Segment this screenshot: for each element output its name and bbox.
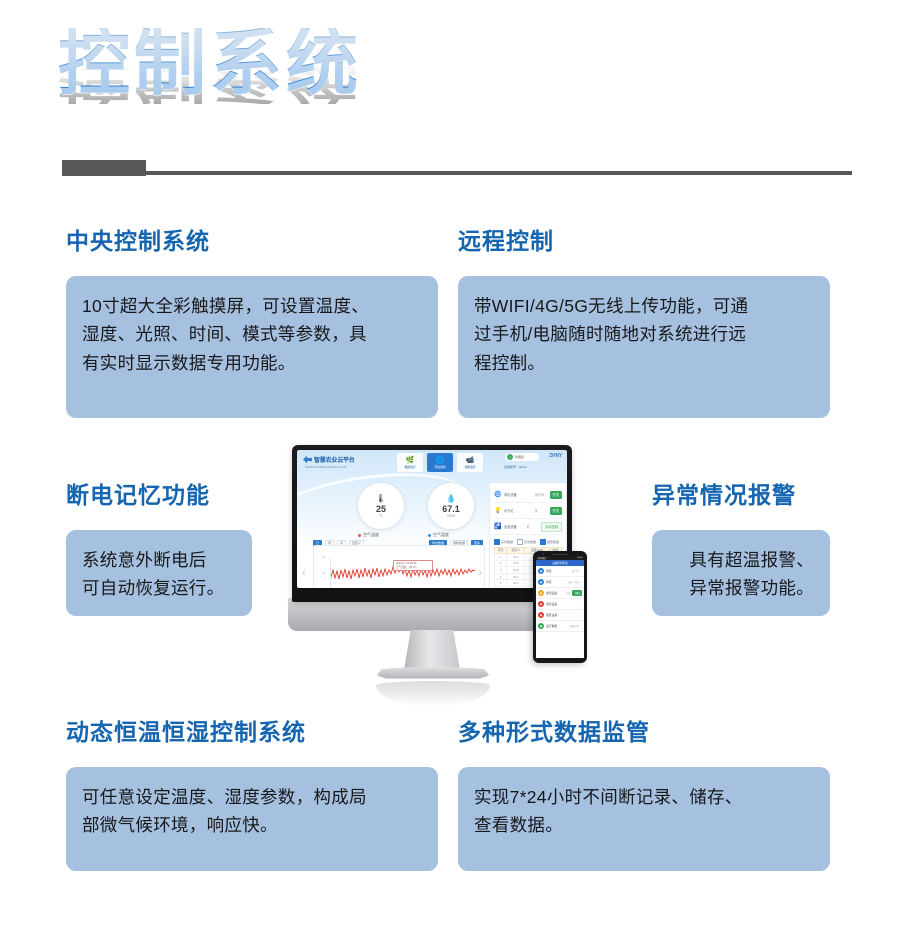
page-title: 控制系统 <box>58 28 362 100</box>
page-header: 控制系统 控制系统 <box>0 0 900 200</box>
checkbox-icon <box>517 539 523 545</box>
list-item-value: 自动 / 关闭 <box>567 580 579 584</box>
gauge-label-air-temperature: 空气温度 <box>358 532 379 538</box>
control-state: 运行中 <box>535 492 547 497</box>
list-item[interactable]: ◉ 加温设备 › <box>536 599 584 610</box>
chart-tooltip: 2023-07-12 09:46 空气温度：25.1℃ <box>393 560 433 571</box>
list-item[interactable]: ◉ 风机 自动 / 关闭 › <box>536 577 584 588</box>
list-item-value: 查看详情 <box>569 624 579 628</box>
feature-heading-central-control: 中央控制系统 <box>66 222 210 256</box>
control-manual-button[interactable]: 手动控制 <box>541 522 562 532</box>
app-account-line: 当前账号：admin <box>504 465 527 469</box>
alarm-icon: ◉ <box>538 612 544 618</box>
app-user-pill[interactable]: ✓ 管理员 <box>505 453 539 461</box>
table-cell: 25.1 <box>507 573 525 580</box>
control-state: 关 <box>526 524 538 529</box>
list-item[interactable]: ◉ 风机 运行中 › <box>536 566 584 577</box>
monitor-reflection <box>376 681 490 707</box>
phone-screen: 中国移动 09:46 ‹ 设备控制列表 ◉ 风机 运行中 › ◉ 风机 自动 /… <box>536 556 584 658</box>
phone-camera-icon <box>542 553 544 555</box>
feature-text-line: 有实时显示数据专用功能。 <box>82 349 422 377</box>
feature-text-line: 程控制。 <box>474 349 814 377</box>
feature-heading-remote-control: 远程控制 <box>458 222 554 256</box>
control-row-light[interactable]: 💡 补光灯 关 开关 <box>494 503 562 519</box>
divider-block <box>62 160 146 176</box>
app-topbar: 智慧农业云平台 SMART AGRICULTURE CLOUD 🌿 数据监控 🌐… <box>297 450 567 476</box>
gauge-air-humidity: 💧 67.1 %RH <box>427 482 475 530</box>
chevron-right-icon: › <box>581 580 582 584</box>
list-item-label: 报警设备 <box>546 613 579 617</box>
list-item-label: 风机 <box>546 569 570 573</box>
feature-box-abnormal-alarm: 具有超温报警、 异常报警功能。 <box>652 530 830 616</box>
chart-y-tick: 0 <box>325 587 326 588</box>
app-nav-tab-label: 视频监控 <box>465 465 476 469</box>
list-item-value: 开启 <box>565 591 570 595</box>
chart-card: 2023-07-12 09:46 空气温度：25.1℃ 30 20 0 00:0… <box>313 545 485 588</box>
gauge-air-temperature: 🌡 25 ℃ <box>357 482 405 530</box>
table-cell: 24.8 <box>507 567 525 574</box>
gauge-value: 67.1 <box>442 504 460 514</box>
feature-text-line: 10寸超大全彩触摸屏，可设置温度、 <box>82 292 422 320</box>
data-icon: ◉ <box>538 623 544 629</box>
gauge-unit: %RH <box>447 514 455 518</box>
list-item[interactable]: ◉ 加湿设备 开启 控制 <box>536 588 584 599</box>
chevron-right-icon: › <box>581 624 582 628</box>
feature-text-line: 可自动恢复运行。 <box>82 574 236 602</box>
chart-tooltip-value: 空气温度：25.1℃ <box>396 566 430 570</box>
app-nav-tab-data-monitor[interactable]: 🌿 数据监控 <box>397 453 423 472</box>
list-item[interactable]: ◉ 运行数据 查看详情 › <box>536 621 584 632</box>
bulb-icon: ◉ <box>538 590 544 596</box>
list-item-label: 运行数据 <box>546 624 567 628</box>
table-cell: 2 <box>495 560 507 567</box>
thermometer-icon: 🌡 <box>376 495 386 503</box>
cloud-arrow-icon <box>303 456 312 464</box>
feature-box-multi-form-monitoring: 实现7*24小时不间断记录、储存、 查看数据。 <box>458 767 830 871</box>
feature-box-remote-control: 带WIFI/4G/5G无线上传功能，可通 过手机/电脑随时随地对系统进行远 程控… <box>458 276 830 418</box>
device-mockup-image: 智慧农业云平台 SMART AGRICULTURE CLOUD 🌿 数据监控 🌐… <box>288 445 618 710</box>
gauge-value: 25 <box>376 504 386 514</box>
divider-line <box>146 171 852 175</box>
chart-y-tick: 20 <box>322 572 325 575</box>
feature-text-line: 可任意设定温度、湿度参数，构成局 <box>82 783 422 811</box>
panel-tab-label: 实时数据 <box>501 540 513 544</box>
panel-tab-alarm[interactable]: 报警数据 <box>540 539 559 545</box>
table-cell: 25.3 <box>507 580 525 587</box>
table-column-header: 温度℃ <box>507 547 525 554</box>
legend-dot-icon <box>428 534 431 537</box>
chevron-right-icon: › <box>581 569 582 573</box>
app-nav-tab-label: 环境监测 <box>435 465 446 469</box>
monitor-frame: 智慧农业云平台 SMART AGRICULTURE CLOUD 🌿 数据监控 🌐… <box>292 445 572 602</box>
control-toggle-button[interactable]: 开关 <box>550 491 562 499</box>
table-cell: 25.2 <box>507 554 525 561</box>
control-toggle-button[interactable]: 开关 <box>550 507 562 515</box>
app-logo-text: 智慧农业云平台 <box>314 455 355 464</box>
heater-icon: ◉ <box>538 601 544 607</box>
chart-prev-arrow-icon[interactable]: ‹ <box>302 568 306 579</box>
feature-box-power-memory: 系统意外断电后 可自动恢复运行。 <box>66 530 252 616</box>
gauge-unit: ℃ <box>379 514 383 518</box>
panel-tabs: 实时数据 历史数据 报警数据 <box>494 539 562 545</box>
control-name: 风机设备 <box>504 492 532 497</box>
chart-plot-area: 2023-07-12 09:46 空气温度：25.1℃ 30 20 0 00:0… <box>330 558 475 588</box>
control-state: 关 <box>535 508 547 513</box>
monitor-screen: 智慧农业云平台 SMART AGRICULTURE CLOUD 🌿 数据监控 🌐… <box>297 450 567 588</box>
feature-heading-multi-form-monitoring: 多种形式数据监管 <box>458 713 650 747</box>
feature-box-central-control: 10寸超大全彩触摸屏，可设置温度、 湿度、光照、时间、模式等参数，具 有实时显示… <box>66 276 438 418</box>
feature-text-line: 湿度、光照、时间、模式等参数，具 <box>82 320 422 348</box>
feature-text-line: 异常报警功能。 <box>668 574 814 602</box>
app-nav-tab-environment[interactable]: 🌐 环境监测 <box>427 453 453 472</box>
monitor-stand-neck <box>404 630 460 670</box>
control-row-fan[interactable]: 🌀 风机设备 运行中 开关 <box>494 487 562 503</box>
table-column-header: 序号 <box>495 547 507 554</box>
legend-dot-icon <box>358 534 361 537</box>
feature-text-line: 实现7*24小时不间断记录、储存、 <box>474 783 814 811</box>
online-status-icon: ✓ <box>507 454 513 460</box>
table-cell: 5 <box>495 580 507 587</box>
fan-icon: ◉ <box>538 579 544 585</box>
table-cell: 4 <box>495 573 507 580</box>
list-item[interactable]: ◉ 报警设备 › <box>536 610 584 621</box>
chevron-right-icon: › <box>581 613 582 617</box>
chevron-right-icon: › <box>581 602 582 606</box>
checkbox-icon <box>494 539 500 545</box>
feature-text-line: 部微气候环境，响应快。 <box>82 811 422 839</box>
app-logo-subtitle: SMART AGRICULTURE CLOUD <box>305 465 346 469</box>
list-item-control-button[interactable]: 控制 <box>572 590 582 596</box>
leaf-icon: 🌿 <box>406 457 415 464</box>
divider <box>62 160 852 178</box>
valve-icon: 🚰 <box>494 523 501 530</box>
panel-tab-label: 报警数据 <box>547 540 559 544</box>
feature-text-line: 查看数据。 <box>474 811 814 839</box>
control-name: 补光灯 <box>504 508 532 513</box>
phone-navbar: ‹ 设备控制列表 <box>536 560 584 566</box>
feature-text-line: 系统意外断电后 <box>82 546 236 574</box>
panel-tab-realtime[interactable]: 实时数据 <box>494 539 513 545</box>
control-name: 加湿设备 <box>504 524 523 529</box>
gauge-icon: 🌐 <box>436 457 445 464</box>
chart-y-tick: 30 <box>322 556 325 559</box>
table-cell: 25.0 <box>507 560 525 567</box>
list-item-label: 加温设备 <box>546 602 579 606</box>
list-item-label: 风机 <box>546 580 565 584</box>
table-cell: 1 <box>495 554 507 561</box>
feature-text-line: 过手机/电脑随时随地对系统进行远 <box>474 320 814 348</box>
app-logo: 智慧农业云平台 <box>303 455 355 464</box>
fan-icon: 🌀 <box>494 491 501 498</box>
droplet-icon: 💧 <box>446 495 456 503</box>
feature-heading-dynamic-thermo-humidity: 动态恒温恒湿控制系统 <box>66 713 306 747</box>
phone-device: 中国移动 09:46 ‹ 设备控制列表 ◉ 风机 运行中 › ◉ 风机 自动 /… <box>533 551 587 663</box>
phone-navbar-title: 设备控制列表 <box>552 561 568 565</box>
bulb-icon: 💡 <box>494 507 501 514</box>
feature-heading-power-memory: 断电记忆功能 <box>66 476 210 510</box>
chart-next-arrow-icon[interactable]: › <box>478 568 482 579</box>
gauge-label-air-humidity: 空气湿度 <box>428 532 449 538</box>
feature-box-dynamic-thermo-humidity: 可任意设定温度、湿度参数，构成局 部微气候环境，响应快。 <box>66 767 438 871</box>
list-item-value: 运行中 <box>572 569 579 573</box>
feature-text-line: 带WIFI/4G/5G无线上传功能，可通 <box>474 292 814 320</box>
fan-icon: ◉ <box>538 568 544 574</box>
app-nav-tab-label: 数据监控 <box>405 465 416 469</box>
panel-tab-history[interactable]: 历史数据 <box>517 539 536 545</box>
feature-heading-abnormal-alarm: 异常情况报警 <box>652 476 796 510</box>
gauge-label-text: 空气湿度 <box>433 532 449 538</box>
phone-clock-label: 09:46 <box>577 557 582 559</box>
camera-icon: 📹 <box>466 457 475 464</box>
feature-text-line: 具有超温报警、 <box>668 546 814 574</box>
list-item-label: 加湿设备 <box>546 591 563 595</box>
app-user-name: 管理员 <box>515 455 524 459</box>
phone-speaker-icon <box>552 554 568 556</box>
control-row-humidifier[interactable]: 🚰 加湿设备 关 手动控制 <box>494 519 562 535</box>
checkbox-icon <box>540 539 546 545</box>
table-cell: 3 <box>495 567 507 574</box>
panel-tab-label: 历史数据 <box>524 540 536 544</box>
gauge-label-text: 空气温度 <box>363 532 379 538</box>
app-nav-tab-video[interactable]: 📹 视频监控 <box>457 453 483 472</box>
back-arrow-icon[interactable]: ‹ <box>538 561 539 565</box>
app-brand-tag: ZHNY <box>549 453 562 459</box>
